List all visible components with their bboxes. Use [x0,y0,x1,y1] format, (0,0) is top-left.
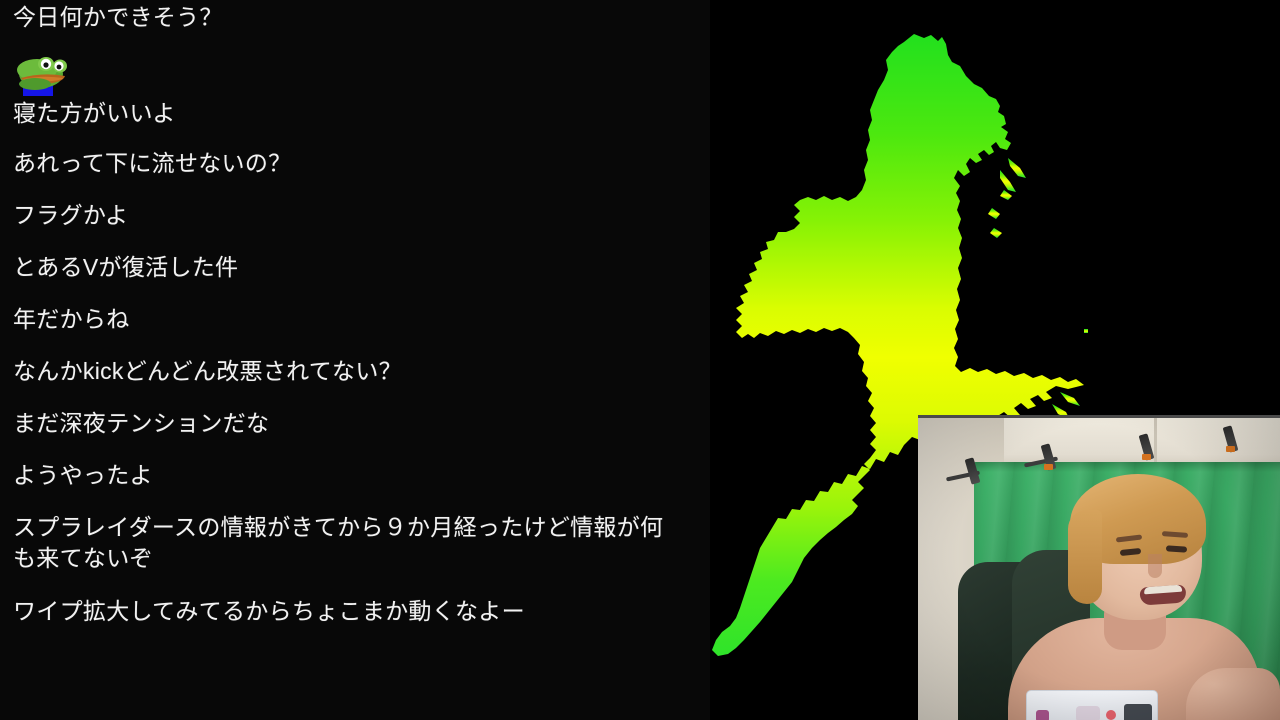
chat-message-text: ようやったよ [13,462,153,488]
chat-message: 今日何かできそう？ [0,2,710,33]
curtain-clip-accent [1226,446,1235,452]
chat-message-text: スプラレイダースの情報がきてから９か月経ったけど情報が何も来てないぞ [13,514,663,571]
chat-emote-row [13,54,686,96]
held-card-marking-d [1124,704,1152,720]
pepe-emote-icon [13,54,77,96]
chat-message-list[interactable]: 今日何かできそう？ [0,2,710,648]
chat-message-text: 年だからね [13,306,130,332]
chat-message: フラグかよ [0,200,710,231]
chat-message-text: 寝た方がいいよ [13,100,176,126]
chat-message: ようやったよ [0,460,710,491]
streamer-arm [1186,668,1280,720]
streamer-nose [1148,554,1162,578]
curtain-clip-accent [1142,454,1151,460]
chat-message: 年だからね [0,304,710,335]
held-card-marking-c [1106,710,1116,720]
curtain-clip-accent [1044,464,1053,470]
curtain-top-shadow [974,462,1280,472]
chat-message: あれって下に流せないの？ [0,148,710,179]
chat-message: スプラレイダースの情報がきてから９か月経ったけど情報が何も来てないぞ [0,512,710,574]
chat-message-text: フラグかよ [13,202,128,228]
chat-message-text: ワイプ拡大してみてるからちょこまか動くなよー [13,598,525,624]
chat-panel[interactable]: 今日何かできそう？ [0,0,710,720]
held-card-marking-a [1036,710,1049,720]
chat-message: とあるVが復活した件 [0,252,710,283]
chat-message: 寝た方がいいよ [0,54,710,129]
chat-message-text: あれって下に流せないの？ [13,150,291,176]
stream-layout-root: 今日何かできそう？ [0,0,1280,720]
held-card-marking-b [1076,706,1100,720]
chat-message-text: とあるVが復活した件 [13,254,238,280]
chat-message-text: まだ深夜テンションだな [13,410,269,436]
chat-message: ワイプ拡大してみてるからちょこまか動くなよー [0,596,710,627]
chat-message: なんかkickどんどん改悪されてない？ [0,356,710,387]
chat-message: まだ深夜テンションだな [0,408,710,439]
streamer-hair-side [1068,510,1102,604]
chat-message-text: なんかkickどんどん改悪されてない？ [13,358,402,384]
chat-message-text: 今日何かできそう？ [13,4,223,30]
webcam-overlay[interactable] [918,415,1280,720]
